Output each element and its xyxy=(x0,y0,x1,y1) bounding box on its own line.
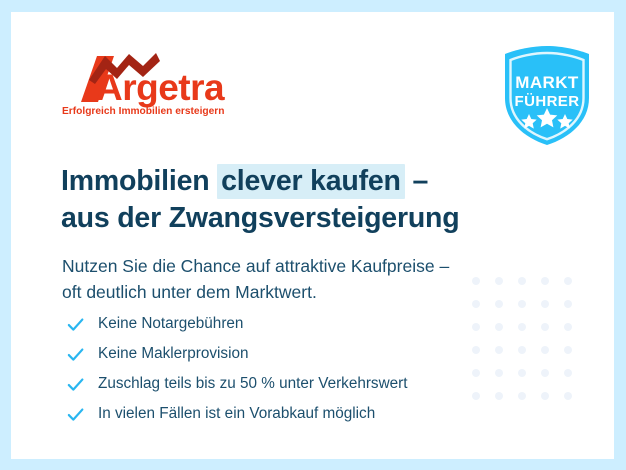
subtitle-line-1: Nutzen Sie die Chance auf attraktive Kau… xyxy=(62,253,449,280)
banner-canvas: Argetra Erfolgreich Immobilien ersteiger… xyxy=(11,12,614,459)
headline-part-after: – xyxy=(405,165,428,197)
dot-grid-decoration xyxy=(472,277,587,415)
market-leader-badge: MARKT FÜHRER xyxy=(499,44,595,148)
benefits-list: Keine Notargebühren Keine Maklerprovisio… xyxy=(66,309,407,429)
grid-dot xyxy=(564,369,572,377)
headline-line-1: Immobilien clever kaufen – xyxy=(61,163,459,199)
page-title: Immobilien clever kaufen – aus der Zwang… xyxy=(61,163,459,236)
grid-dot xyxy=(472,300,480,308)
grid-dot xyxy=(495,392,503,400)
headline-highlight: clever kaufen xyxy=(217,164,405,199)
list-item: Zuschlag teils bis zu 50 % unter Verkehr… xyxy=(66,369,407,399)
grid-dot xyxy=(495,300,503,308)
grid-dot xyxy=(541,392,549,400)
headline-part-before: Immobilien xyxy=(61,165,217,197)
benefit-label: Keine Notargebühren xyxy=(98,316,243,331)
grid-dot xyxy=(518,392,526,400)
page-subtitle: Nutzen Sie die Chance auf attraktive Kau… xyxy=(62,253,449,306)
checkmark-icon xyxy=(66,375,85,394)
grid-dot xyxy=(472,277,480,285)
list-item: In vielen Fällen ist ein Vorabkauf mögli… xyxy=(66,399,407,429)
logo-wordmark: Argetra xyxy=(96,67,225,108)
benefit-label: Zuschlag teils bis zu 50 % unter Verkehr… xyxy=(98,376,407,391)
badge-line2: FÜHRER xyxy=(515,93,580,110)
grid-dot xyxy=(518,277,526,285)
benefit-label: In vielen Fällen ist ein Vorabkauf mögli… xyxy=(98,406,375,421)
brand-logo[interactable]: Argetra Erfolgreich Immobilien ersteiger… xyxy=(59,50,259,118)
promo-banner: Argetra Erfolgreich Immobilien ersteiger… xyxy=(0,0,626,470)
subtitle-line-2: oft deutlich unter dem Marktwert. xyxy=(62,279,449,306)
headline-line-2: aus der Zwangsversteigerung xyxy=(61,200,459,236)
checkmark-icon xyxy=(66,405,85,424)
benefit-label: Keine Maklerprovision xyxy=(98,346,249,361)
logo-tagline: Erfolgreich Immobilien ersteigern xyxy=(62,106,224,117)
grid-dot xyxy=(564,346,572,354)
grid-dot xyxy=(518,300,526,308)
list-item: Keine Maklerprovision xyxy=(66,339,407,369)
checkmark-icon xyxy=(66,345,85,364)
grid-dot xyxy=(518,346,526,354)
grid-dot xyxy=(564,323,572,331)
grid-dot xyxy=(495,369,503,377)
grid-dot xyxy=(472,346,480,354)
grid-dot xyxy=(564,392,572,400)
grid-dot xyxy=(472,323,480,331)
grid-dot xyxy=(495,277,503,285)
badge-line1: MARKT xyxy=(515,73,579,92)
grid-dot xyxy=(541,277,549,285)
grid-dot xyxy=(541,300,549,308)
grid-dot xyxy=(472,369,480,377)
list-item: Keine Notargebühren xyxy=(66,309,407,339)
grid-dot xyxy=(541,346,549,354)
grid-dot xyxy=(564,300,572,308)
grid-dot xyxy=(564,277,572,285)
grid-dot xyxy=(495,323,503,331)
grid-dot xyxy=(518,323,526,331)
checkmark-icon xyxy=(66,315,85,334)
grid-dot xyxy=(472,392,480,400)
grid-dot xyxy=(495,346,503,354)
grid-dot xyxy=(541,323,549,331)
grid-dot xyxy=(541,369,549,377)
grid-dot xyxy=(518,369,526,377)
